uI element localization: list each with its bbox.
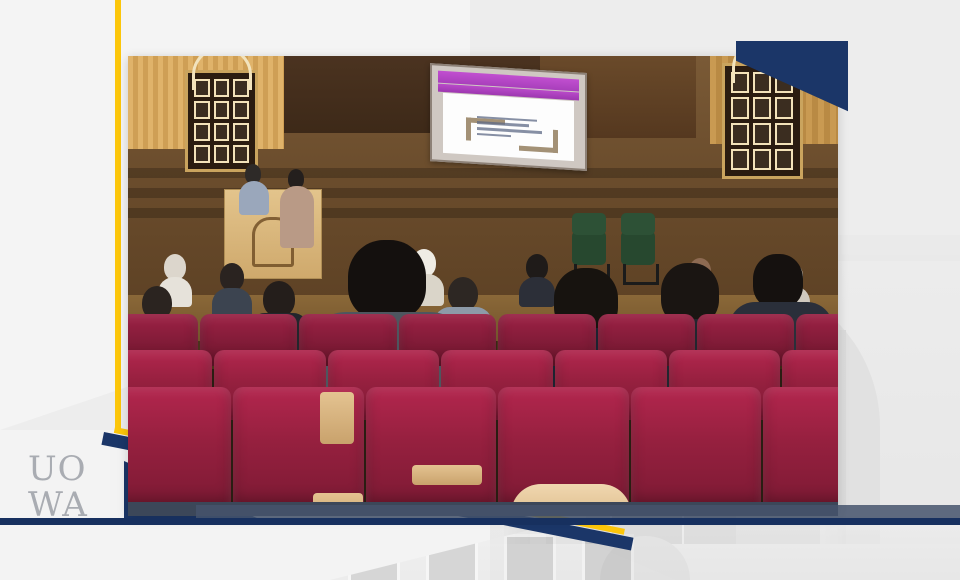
audience-head	[753, 254, 803, 308]
logo-line-2: WA	[28, 488, 112, 522]
auditorium-seat	[128, 387, 231, 507]
audience-head	[263, 281, 295, 317]
audience-body	[519, 277, 555, 307]
seat-row-1-foreground	[128, 387, 838, 507]
presenter-body	[280, 186, 314, 248]
gold-vertical-accent-line	[115, 0, 121, 432]
building-strip-window	[582, 534, 634, 580]
auditorium-seminar-photo	[128, 56, 838, 516]
stage-chair-legs	[623, 264, 659, 285]
logo-line-1: UO	[28, 452, 112, 486]
audience-head	[348, 240, 426, 320]
audience-head	[164, 254, 186, 280]
stage-chair-right	[621, 231, 655, 265]
stage-chair-back	[621, 213, 655, 235]
slide-page	[442, 93, 573, 161]
stage-chair-left	[572, 231, 606, 265]
photo-content	[128, 56, 838, 516]
auditorium-seat	[763, 387, 838, 507]
mashrabiya-lattice	[194, 79, 249, 164]
audience-head	[220, 263, 244, 291]
auditorium-seat	[631, 387, 762, 507]
seat-writing-tray	[412, 465, 482, 485]
presentation-slide-screen	[430, 63, 587, 171]
uowa-logo: UO WA	[28, 452, 112, 520]
presenter-body	[239, 181, 269, 215]
navy-band-soft	[196, 505, 960, 519]
auditorium-seat	[366, 387, 497, 507]
building-strip-window	[504, 534, 556, 580]
navy-horizontal-band	[0, 518, 960, 525]
stage-chair-back	[572, 213, 606, 235]
audience-head	[448, 277, 478, 311]
banner-canvas: UO WA	[0, 0, 960, 580]
audience-head	[526, 254, 548, 280]
left-mashrabiya-panel	[185, 70, 258, 173]
seat-writing-tray	[320, 392, 354, 444]
mashrabiya-lattice	[731, 72, 794, 170]
